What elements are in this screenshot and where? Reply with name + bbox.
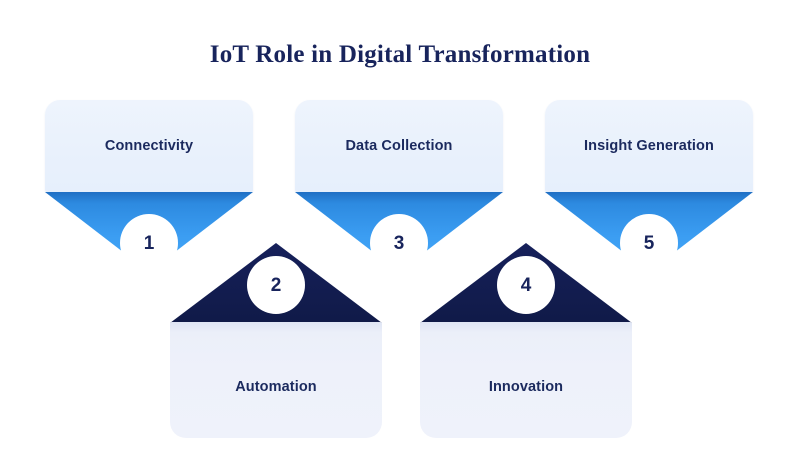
step-card-automation[interactable]: Automation	[170, 322, 382, 438]
step-card-insight-generation[interactable]: Insight Generation	[545, 100, 753, 192]
step-number-badge-2: 2	[247, 256, 305, 314]
step-number-5: 5	[644, 234, 655, 253]
step-number-1: 1	[144, 234, 155, 253]
step-number-3: 3	[394, 234, 405, 253]
step-number-badge-1: 1	[120, 214, 178, 272]
step-label-automation: Automation	[235, 379, 317, 395]
infographic-canvas: IoT Role in Digital Transformation Conne…	[0, 0, 800, 474]
step-label-connectivity: Connectivity	[105, 138, 193, 154]
step-label-insight-generation: Insight Generation	[584, 138, 714, 154]
step-number-badge-3: 3	[370, 214, 428, 272]
page-title: IoT Role in Digital Transformation	[0, 41, 800, 69]
step-number-2: 2	[271, 276, 282, 295]
step-card-innovation[interactable]: Innovation	[420, 322, 632, 438]
step-number-badge-4: 4	[497, 256, 555, 314]
step-card-data-collection[interactable]: Data Collection	[295, 100, 503, 192]
step-label-data-collection: Data Collection	[345, 138, 452, 154]
step-number-badge-5: 5	[620, 214, 678, 272]
step-label-innovation: Innovation	[489, 379, 563, 395]
step-card-connectivity[interactable]: Connectivity	[45, 100, 253, 192]
step-number-4: 4	[521, 276, 532, 295]
